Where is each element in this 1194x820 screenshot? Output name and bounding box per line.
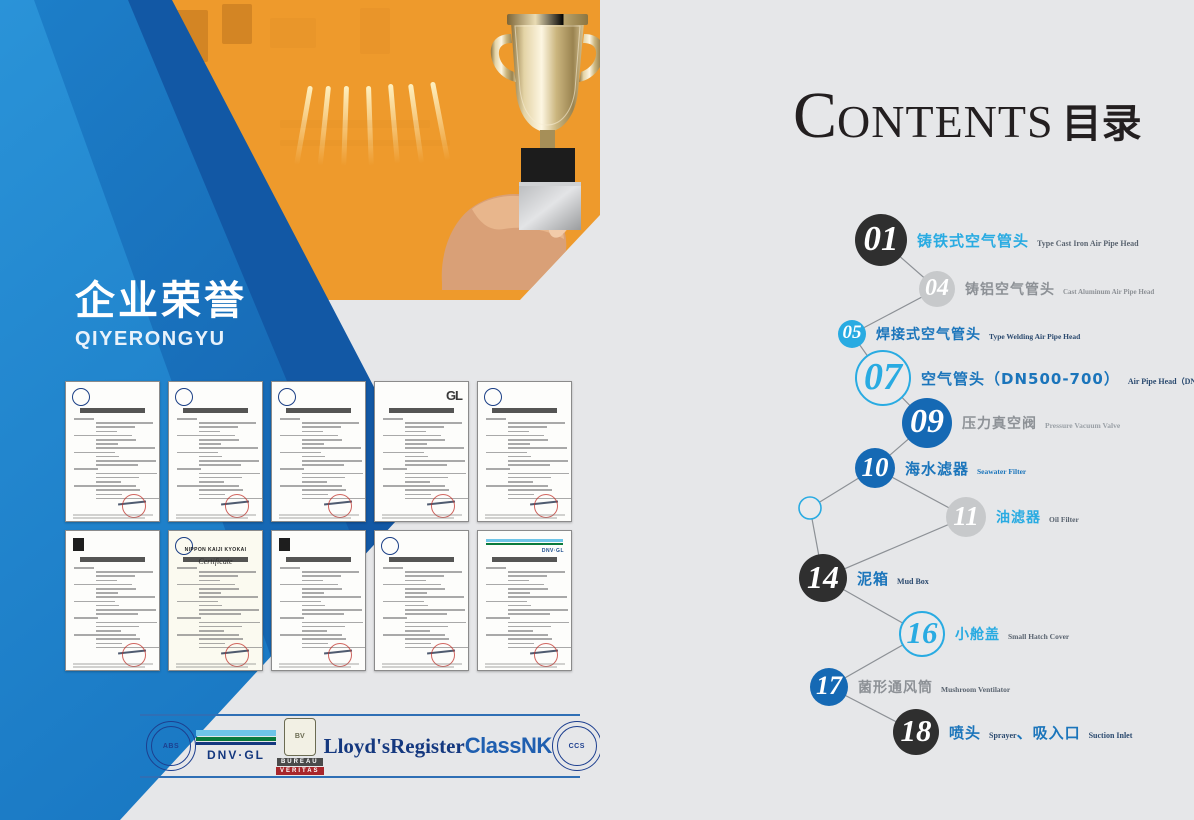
toc-label-en: Mushroom Ventilator	[941, 685, 1010, 694]
certificate-grid: GLNIPPON KAIJI KYOKAICertificateDNV·GL	[65, 381, 578, 671]
bv-label-bottom: VERITAS	[276, 767, 324, 775]
toc-number-badge[interactable]: 16	[899, 611, 945, 657]
toc-label-cn: 铸铝空气管头	[965, 279, 1055, 299]
toc-number-text: 18	[901, 713, 932, 749]
toc-item-05[interactable]: 05焊接式空气管头Type Welding Air Pipe Head	[838, 320, 1080, 348]
toc-item-11[interactable]: 11油滤器Oil Filter	[946, 497, 1079, 537]
certificate-thumbnail: DNV·GL	[477, 530, 572, 671]
toc-number-badge[interactable]: 17	[810, 668, 848, 706]
toc-item-17[interactable]: 17菌形通风筒Mushroom Ventilator	[810, 668, 1010, 706]
toc-item-labels: 喷头Sprayer、吸入口Suction Inlet	[949, 722, 1132, 743]
ccs-label: CCS	[569, 743, 585, 750]
classification-societies-strip: ABS DNV·GL BV BUREAU VERITAS Lloyd's Reg…	[140, 714, 580, 778]
certificate-thumbnail	[65, 530, 160, 671]
certificate-thumbnail	[477, 381, 572, 522]
section-title-cn: 企业荣誉	[75, 278, 247, 324]
toc-number-text: 04	[925, 275, 949, 302]
toc-item-labels: 小舱盖Small Hatch Cover	[955, 624, 1069, 644]
dnvgl-logo-label: DNV·GL	[207, 748, 265, 762]
toc-item-labels: 铸铝空气管头Cast Aluminum Air Pipe Head	[965, 279, 1154, 299]
slide-root: 企业荣誉 QIYERONGYU GLNIPPON KAIJI KYOKAICer…	[0, 0, 1194, 820]
dnvgl-logo: DNV·GL	[196, 730, 276, 762]
bureau-veritas-logo: BV BUREAU VERITAS	[276, 718, 324, 775]
toc-number-badge[interactable]: 14	[799, 554, 847, 602]
toc-item-18[interactable]: 18喷头Sprayer、吸入口Suction Inlet	[893, 709, 1132, 755]
toc-item-labels: 海水滤器Seawater Filter	[905, 458, 1026, 479]
classnk-label: ClassNK	[465, 733, 552, 759]
toc-label-en-4: Suction Inlet	[1089, 731, 1133, 740]
toc-label-cn: 空气管头（DN500-700）	[921, 368, 1120, 389]
toc-item-labels: 菌形通风筒Mushroom Ventilator	[858, 677, 1010, 697]
toc-number-text: 16	[907, 615, 938, 651]
toc-item-04[interactable]: 04铸铝空气管头Cast Aluminum Air Pipe Head	[919, 271, 1154, 307]
toc-label-cn-0: 喷头	[949, 722, 981, 743]
toc-item-labels: 压力真空阀Pressure Vacuum Valve	[962, 413, 1120, 433]
toc-label-en: Type Welding Air Pipe Head	[989, 332, 1080, 341]
toc-item-labels: 铸铁式空气管头Type Cast Iron Air Pipe Head	[917, 230, 1139, 251]
toc-label-cn: 海水滤器	[905, 458, 969, 479]
toc-number-text: 10	[862, 452, 889, 483]
certificate-thumbnail	[65, 381, 160, 522]
toc-number-badge[interactable]: 01	[855, 214, 907, 266]
toc-number-text: 01	[864, 219, 899, 259]
toc-label-cn-3: 吸入口	[1033, 722, 1081, 743]
toc-item-01[interactable]: 01铸铁式空气管头Type Cast Iron Air Pipe Head	[855, 214, 1139, 266]
toc-number-text: 05	[843, 322, 862, 344]
strip-bottom-rule	[140, 776, 580, 778]
lloyds-register-logo: Lloyd's Register	[324, 737, 465, 755]
left-panel: 企业荣誉 QIYERONGYU GLNIPPON KAIJI KYOKAICer…	[0, 0, 600, 820]
toc-number-text: 09	[910, 403, 944, 441]
toc-number-badge[interactable]: 05	[838, 320, 866, 348]
abs-logo-label: ABS	[163, 743, 179, 750]
toc-label-cn: 压力真空阀	[962, 413, 1037, 433]
lr-line-2: Register	[390, 737, 465, 755]
lr-line-1: Lloyd's	[324, 737, 391, 755]
toc-item-labels: 油滤器Oil Filter	[996, 507, 1079, 527]
bv-crest: BV	[284, 718, 316, 756]
contents-panel: C ONTENTS 目录 01铸铁式空气管头Type Cast Iron Air…	[600, 0, 1194, 820]
toc-label-en: Small Hatch Cover	[1008, 632, 1069, 641]
toc-number-badge[interactable]: 10	[855, 448, 895, 488]
toc-number-text: 07	[864, 355, 902, 399]
toc-number-badge[interactable]: 04	[919, 271, 955, 307]
toc-label-cn: 铸铁式空气管头	[917, 230, 1029, 251]
toc-label-cn: 菌形通风筒	[858, 677, 933, 697]
certificate-thumbnail	[271, 381, 366, 522]
bv-label-top: BUREAU	[277, 758, 323, 766]
abs-logo: ABS	[146, 721, 196, 771]
toc-number-text: 14	[807, 559, 839, 596]
toc-label-cn-2: 、	[1017, 722, 1033, 743]
toc-label-en: Cast Aluminum Air Pipe Head	[1063, 288, 1154, 296]
toc-label-en: Pressure Vacuum Valve	[1045, 421, 1120, 430]
toc-item-10[interactable]: 10海水滤器Seawater Filter	[855, 448, 1026, 488]
trophy-icon	[485, 6, 600, 236]
certificate-thumbnail	[168, 381, 263, 522]
certificate-thumbnail	[374, 530, 469, 671]
toc-item-16[interactable]: 16小舱盖Small Hatch Cover	[899, 611, 1069, 657]
certificate-thumbnail: GL	[374, 381, 469, 522]
toc-connector-dot	[799, 497, 821, 519]
toc-label-en-1: Sprayer	[989, 731, 1017, 740]
certificate-thumbnail	[271, 530, 366, 671]
ccs-logo: CCS	[552, 721, 600, 771]
toc-label-en: Seawater Filter	[977, 467, 1026, 476]
certificate-thumbnail: NIPPON KAIJI KYOKAICertificate	[168, 530, 263, 671]
classification-logos-row: ABS DNV·GL BV BUREAU VERITAS Lloyd's Reg…	[140, 716, 580, 776]
toc-number-text: 17	[816, 671, 842, 701]
section-title-en: QIYERONGYU	[75, 328, 247, 351]
toc-item-labels: 泥箱Mud Box	[857, 568, 929, 589]
toc-label-en: Mud Box	[897, 577, 929, 586]
section-title: 企业荣誉 QIYERONGYU	[75, 278, 247, 351]
classnk-logo: ClassNK	[465, 733, 552, 759]
toc-item-labels: 空气管头（DN500-700）Air Pipe Head（DN500-700）	[921, 368, 1194, 389]
toc-number-badge[interactable]: 18	[893, 709, 939, 755]
toc-number-badge[interactable]: 11	[946, 497, 986, 537]
toc-label-cn: 焊接式空气管头	[876, 324, 981, 344]
toc-item-09[interactable]: 09压力真空阀Pressure Vacuum Valve	[902, 398, 1120, 448]
toc-label-cn: 泥箱	[857, 568, 889, 589]
toc-label-en: Air Pipe Head（DN500-700）	[1128, 376, 1194, 387]
toc-number-text: 11	[953, 501, 979, 532]
toc-label-en: Oil Filter	[1049, 515, 1079, 524]
toc-label-cn: 油滤器	[996, 507, 1041, 527]
toc-label-cn: 小舱盖	[955, 624, 1000, 644]
toc-number-badge[interactable]: 09	[902, 398, 952, 448]
toc-item-labels: 焊接式空气管头Type Welding Air Pipe Head	[876, 324, 1080, 344]
toc-label-en: Type Cast Iron Air Pipe Head	[1037, 239, 1139, 248]
toc-item-14[interactable]: 14泥箱Mud Box	[799, 554, 929, 602]
